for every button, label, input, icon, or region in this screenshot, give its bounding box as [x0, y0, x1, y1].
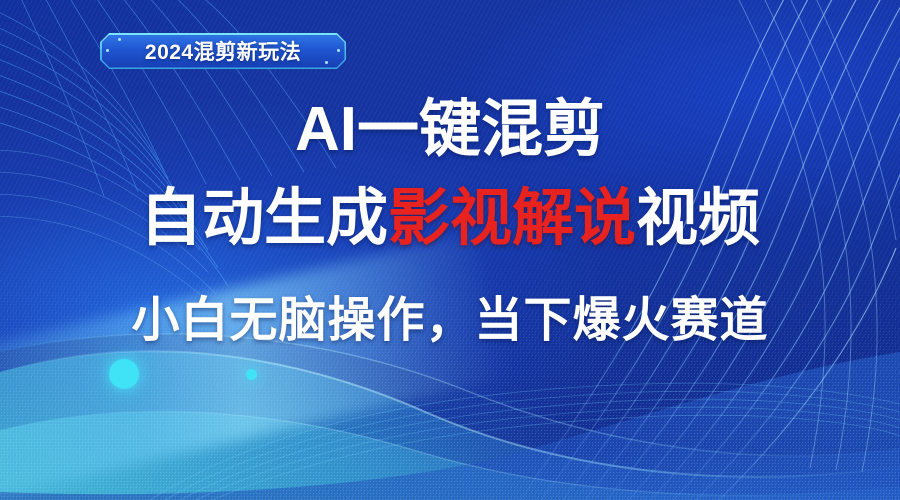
badge-label: 2024混剪新玩法 [145, 36, 301, 66]
headline-line-2-part-1: 自动生成 [140, 184, 388, 253]
headline-line-3: 小白无脑操作，当下爆火赛道 [0, 297, 900, 345]
cyan-dot-large-icon [109, 359, 139, 389]
light-beam-decor [0, 232, 509, 500]
diagonal-waves-decor [0, 0, 900, 500]
badge-rivet-icon [106, 49, 109, 52]
ribbon-waves-decor [0, 0, 900, 500]
promo-poster: 2024混剪新玩法 AI一键混剪 自动生成影视解说视频 小白无脑操作，当下爆火赛… [0, 0, 900, 500]
headline-line-2-accent: 影视解说 [388, 184, 636, 253]
badge-rivet-icon [337, 49, 340, 52]
badge-rivet-icon [118, 38, 121, 41]
background-hatch-texture [0, 0, 900, 500]
headline-line-2: 自动生成影视解说视频 [0, 188, 900, 250]
background-dot-texture [0, 0, 900, 500]
cyan-dot-small-icon [246, 369, 257, 380]
badge-rivet-icon [325, 61, 328, 64]
headline-line-1: AI一键混剪 [0, 99, 900, 161]
background-gradient [0, 0, 900, 500]
promo-badge: 2024混剪新玩法 [100, 33, 346, 69]
wire-mesh-decor [0, 0, 900, 500]
headline-line-1-text: AI一键混剪 [295, 95, 605, 164]
headline-line-2-part-3: 视频 [636, 184, 760, 253]
headline-block: AI一键混剪 自动生成影视解说视频 小白无脑操作，当下爆火赛道 [0, 0, 900, 500]
headline-line-3-text: 小白无脑操作，当下爆火赛道 [131, 294, 768, 347]
background-teal-sweep [0, 0, 900, 500]
